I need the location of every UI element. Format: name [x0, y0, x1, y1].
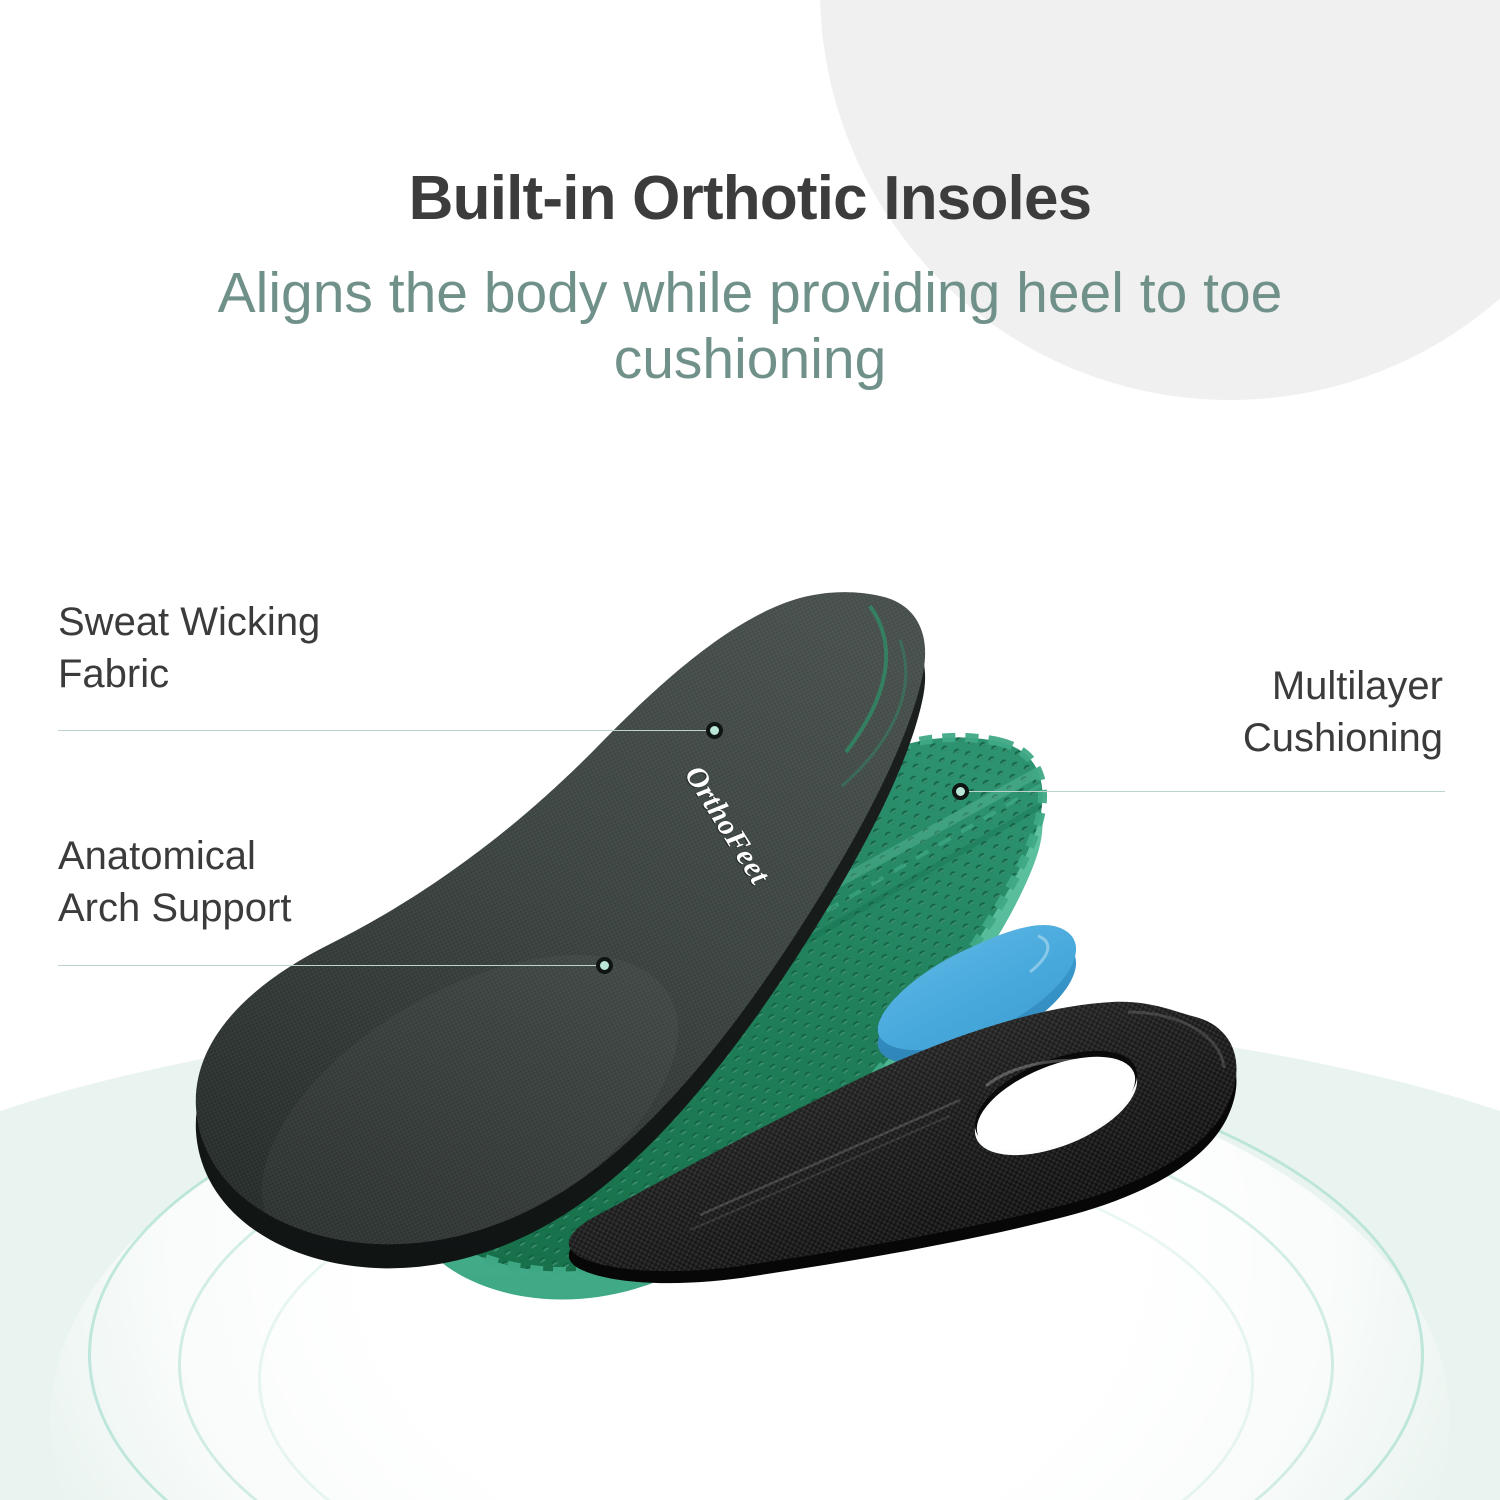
page-subtitle: Aligns the body while providing heel to …	[160, 230, 1340, 392]
callout-label-anatomical-arch-support: Anatomical Arch Support	[58, 830, 608, 934]
leader-dot-sweat-wicking-fabric	[706, 722, 723, 739]
callout-sweat-wicking-fabric: Sweat Wicking Fabric	[58, 596, 718, 700]
callout-label-sweat-wicking-fabric: Sweat Wicking Fabric	[58, 596, 718, 700]
leader-line-multilayer-cushioning	[960, 791, 1445, 792]
page-title: Built-in Orthotic Insoles	[0, 0, 1500, 230]
headings-block: Built-in Orthotic Insoles Aligns the bod…	[0, 0, 1500, 392]
leader-line-anatomical-arch-support	[58, 965, 603, 966]
callout-multilayer-cushioning: Multilayer Cushioning	[930, 660, 1445, 764]
leader-line-sweat-wicking-fabric	[58, 730, 713, 731]
infographic-canvas: Built-in Orthotic Insoles Aligns the bod…	[0, 0, 1500, 1500]
callout-anatomical-arch-support: Anatomical Arch Support	[58, 830, 608, 934]
leader-dot-anatomical-arch-support	[596, 957, 613, 974]
leader-dot-multilayer-cushioning	[952, 783, 969, 800]
callout-label-multilayer-cushioning: Multilayer Cushioning	[930, 660, 1445, 764]
